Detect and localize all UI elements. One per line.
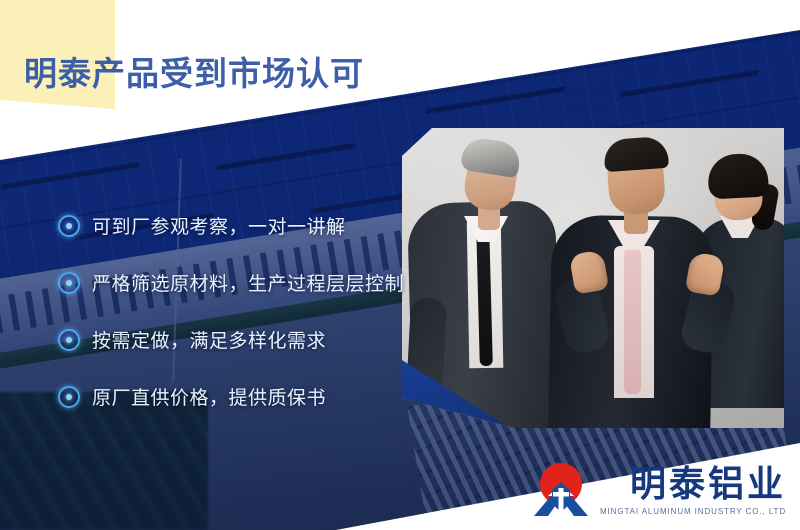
target-circle-icon <box>58 329 80 351</box>
list-item: 原厂直供价格，提供质保书 <box>58 383 418 410</box>
target-circle-icon <box>58 272 80 294</box>
page-title: 明泰产品受到市场认可 <box>24 47 364 95</box>
logo-text-block: 明泰铝业 MINGTAI ALUMINUM INDUSTRY CO., LTD <box>600 467 786 518</box>
target-circle-icon <box>58 386 80 408</box>
business-people-photo <box>402 128 784 428</box>
list-item: 可到厂参观考察，一对一讲解 <box>58 212 418 239</box>
feature-list: 可到厂参观考察，一对一讲解 严格筛选原材料，生产过程层层控制 按需定做，满足多样… <box>58 212 418 410</box>
person-center-tie <box>624 250 641 394</box>
marketing-banner: 明泰产品受到市场认可 <box>0 0 800 530</box>
feature-text: 严格筛选原材料，生产过程层层控制 <box>92 269 404 296</box>
target-circle-icon <box>58 215 80 237</box>
company-logo: 明泰铝业 MINGTAI ALUMINUM INDUSTRY CO., LTD <box>530 460 786 518</box>
feature-text: 原厂直供价格，提供质保书 <box>92 383 326 410</box>
list-item: 严格筛选原材料，生产过程层层控制 <box>58 269 418 296</box>
list-item: 按需定做，满足多样化需求 <box>58 326 418 353</box>
feature-text: 可到厂参观考察，一对一讲解 <box>92 212 346 239</box>
logo-english-name: MINGTAI ALUMINUM INDUSTRY CO., LTD <box>600 507 786 516</box>
mingtai-sun-mountain-icon <box>530 460 592 518</box>
logo-chinese-name: 明泰铝业 <box>630 467 786 503</box>
feature-text: 按需定做，满足多样化需求 <box>92 326 326 353</box>
